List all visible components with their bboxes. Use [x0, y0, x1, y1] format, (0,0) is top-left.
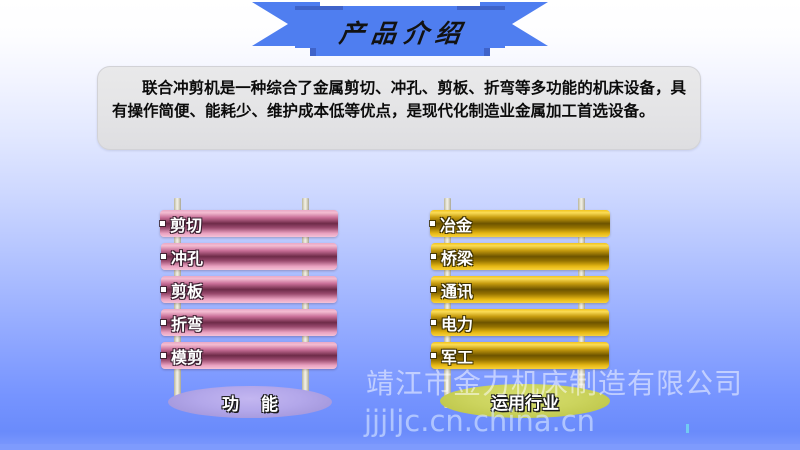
banner-title: 产品介绍: [0, 14, 800, 50]
rung-item[interactable]: 通讯: [431, 276, 609, 303]
ribbon-fold-right: [457, 6, 505, 10]
rung-label: 军工: [441, 344, 473, 368]
bottom-strip: [0, 444, 800, 450]
rung-label: 模剪: [171, 344, 203, 368]
rung-item[interactable]: 剪板: [161, 276, 337, 303]
bullet-icon: [431, 254, 436, 259]
slide-canvas: 产品介绍 联合冲剪机是一种综合了金属剪切、冲孔、剪板、折弯等多功能的机床设备，具…: [0, 0, 800, 450]
rung-item[interactable]: 电力: [431, 309, 609, 336]
rung-item[interactable]: 折弯: [161, 309, 337, 336]
rung-label: 桥梁: [441, 245, 473, 269]
bullet-icon: [161, 353, 166, 358]
rung-item[interactable]: 军工: [431, 342, 609, 369]
rung-item[interactable]: 冲孔: [161, 243, 337, 270]
rung-label: 剪板: [171, 278, 203, 302]
base-label: 功 能: [214, 390, 286, 415]
bullet-icon: [430, 221, 435, 226]
banner-ribbon: 产品介绍: [0, 0, 800, 62]
watermark-cursor-mark: [686, 424, 689, 433]
rung-label: 折弯: [171, 311, 203, 335]
rung-label: 冶金: [440, 212, 472, 236]
bullet-icon: [160, 221, 165, 226]
bullet-icon: [161, 320, 166, 325]
rung-label: 剪切: [170, 212, 202, 236]
bullet-icon: [431, 287, 436, 292]
base-industries: 运用行业: [440, 384, 610, 418]
description-text: 联合冲剪机是一种综合了金属剪切、冲孔、剪板、折弯等多功能的机床设备，具有操作简便…: [112, 76, 686, 122]
bullet-icon: [161, 287, 166, 292]
bullet-icon: [431, 353, 436, 358]
rung-label: 通讯: [441, 278, 473, 302]
ribbon-fold-left: [295, 6, 343, 10]
rung-item[interactable]: 模剪: [161, 342, 337, 369]
bullet-icon: [431, 320, 436, 325]
rung-item[interactable]: 桥梁: [431, 243, 609, 270]
description-card: 联合冲剪机是一种综合了金属剪切、冲孔、剪板、折弯等多功能的机床设备，具有操作简便…: [97, 66, 701, 150]
bullet-icon: [161, 254, 166, 259]
rung-label: 电力: [441, 311, 473, 335]
rung-item[interactable]: 剪切: [160, 210, 338, 237]
rung-item[interactable]: 冶金: [430, 210, 610, 237]
base-label: 运用行业: [491, 389, 559, 414]
base-functions: 功 能: [168, 386, 332, 418]
rung-label: 冲孔: [171, 245, 203, 269]
ladder-functions: 剪切 冲孔 剪板 折弯 模剪: [160, 188, 360, 418]
